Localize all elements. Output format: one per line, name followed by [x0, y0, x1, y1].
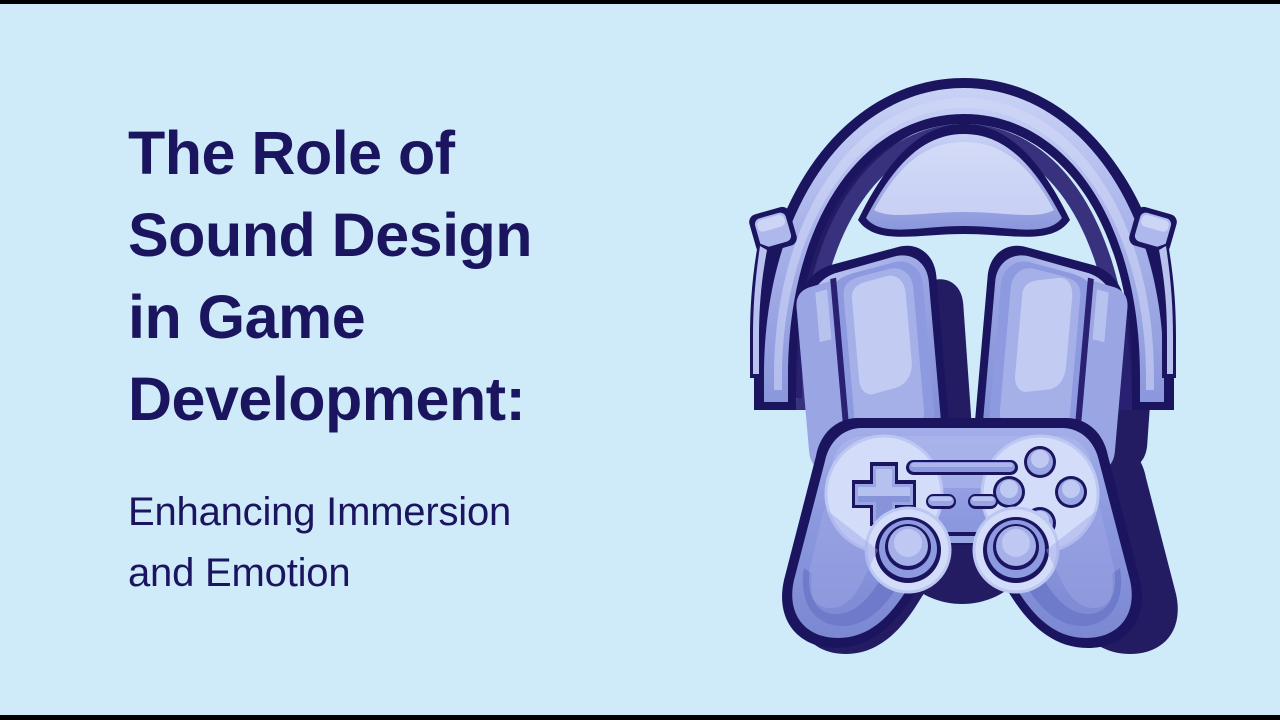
game-controller	[782, 418, 1142, 648]
text-column: The Role of Sound Design in Game Develop…	[128, 112, 688, 604]
headphones-gamepad-illustration	[712, 38, 1212, 663]
letterbox-bar-bottom	[0, 715, 1280, 720]
slide-root: The Role of Sound Design in Game Develop…	[0, 0, 1280, 720]
letterbox-bar-top	[0, 0, 1280, 4]
analog-stick-right	[974, 508, 1058, 592]
slide-title: The Role of Sound Design in Game Develop…	[128, 112, 688, 440]
analog-stick-left	[866, 508, 950, 592]
speaker-bar	[906, 460, 1018, 475]
slide-subtitle: Enhancing Immersion and Emotion	[128, 482, 688, 604]
